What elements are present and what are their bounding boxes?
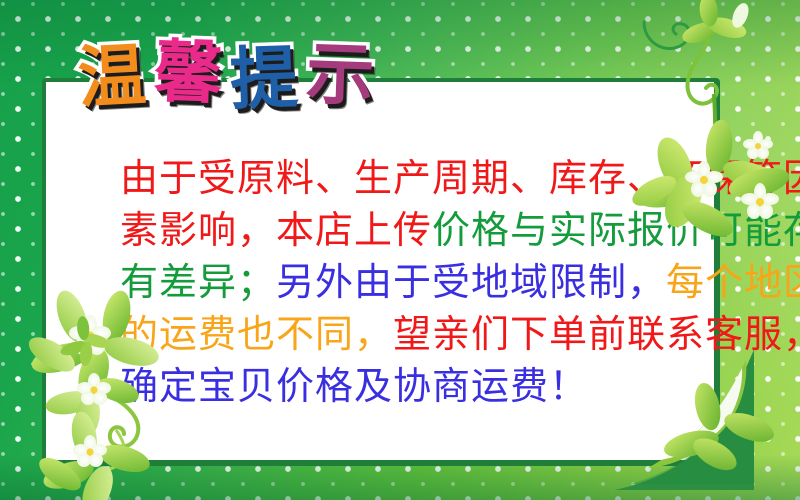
message-segment: 由于受原料、生产周期、库存、环保等因 bbox=[120, 156, 800, 200]
message-segment: 确定宝贝价格及协商运费！ bbox=[120, 364, 588, 408]
message-line-5: 确定宝贝价格及协商运费！ bbox=[120, 360, 720, 412]
poster-title: 温馨提示 bbox=[78, 44, 382, 112]
notice-message: 由于受原料、生产周期、库存、环保等因 素影响，本店上传价格与实际报价可能存 有差… bbox=[120, 152, 720, 412]
message-segment: 另外由于受地域限制， bbox=[276, 260, 666, 304]
title-char-1: 温 bbox=[76, 42, 147, 113]
message-segment: 价格与实际报价可能存 bbox=[432, 208, 800, 252]
message-segment: 素影响，本店上传 bbox=[120, 208, 432, 252]
message-segment: 有差异； bbox=[120, 260, 276, 304]
title-char-2: 馨 bbox=[153, 39, 223, 109]
message-line-2: 素影响，本店上传价格与实际报价可能存 bbox=[120, 204, 720, 256]
title-char-4: 示 bbox=[305, 41, 375, 111]
message-segment: 的运费也不同， bbox=[120, 312, 393, 356]
message-line-4: 的运费也不同，望亲们下单前联系客服， bbox=[120, 308, 720, 360]
promo-poster: 温馨提示 由于受原料、生产周期、库存、环保等因 素影响，本店上传价格与实际报价可… bbox=[0, 0, 800, 500]
title-char-3: 提 bbox=[229, 45, 299, 115]
message-segment: 每个地区 bbox=[666, 260, 800, 304]
message-line-3: 有差异；另外由于受地域限制，每个地区 bbox=[120, 256, 720, 308]
message-line-1: 由于受原料、生产周期、库存、环保等因 bbox=[120, 152, 720, 204]
message-segment: 望亲们下单前联系客服， bbox=[393, 312, 800, 356]
